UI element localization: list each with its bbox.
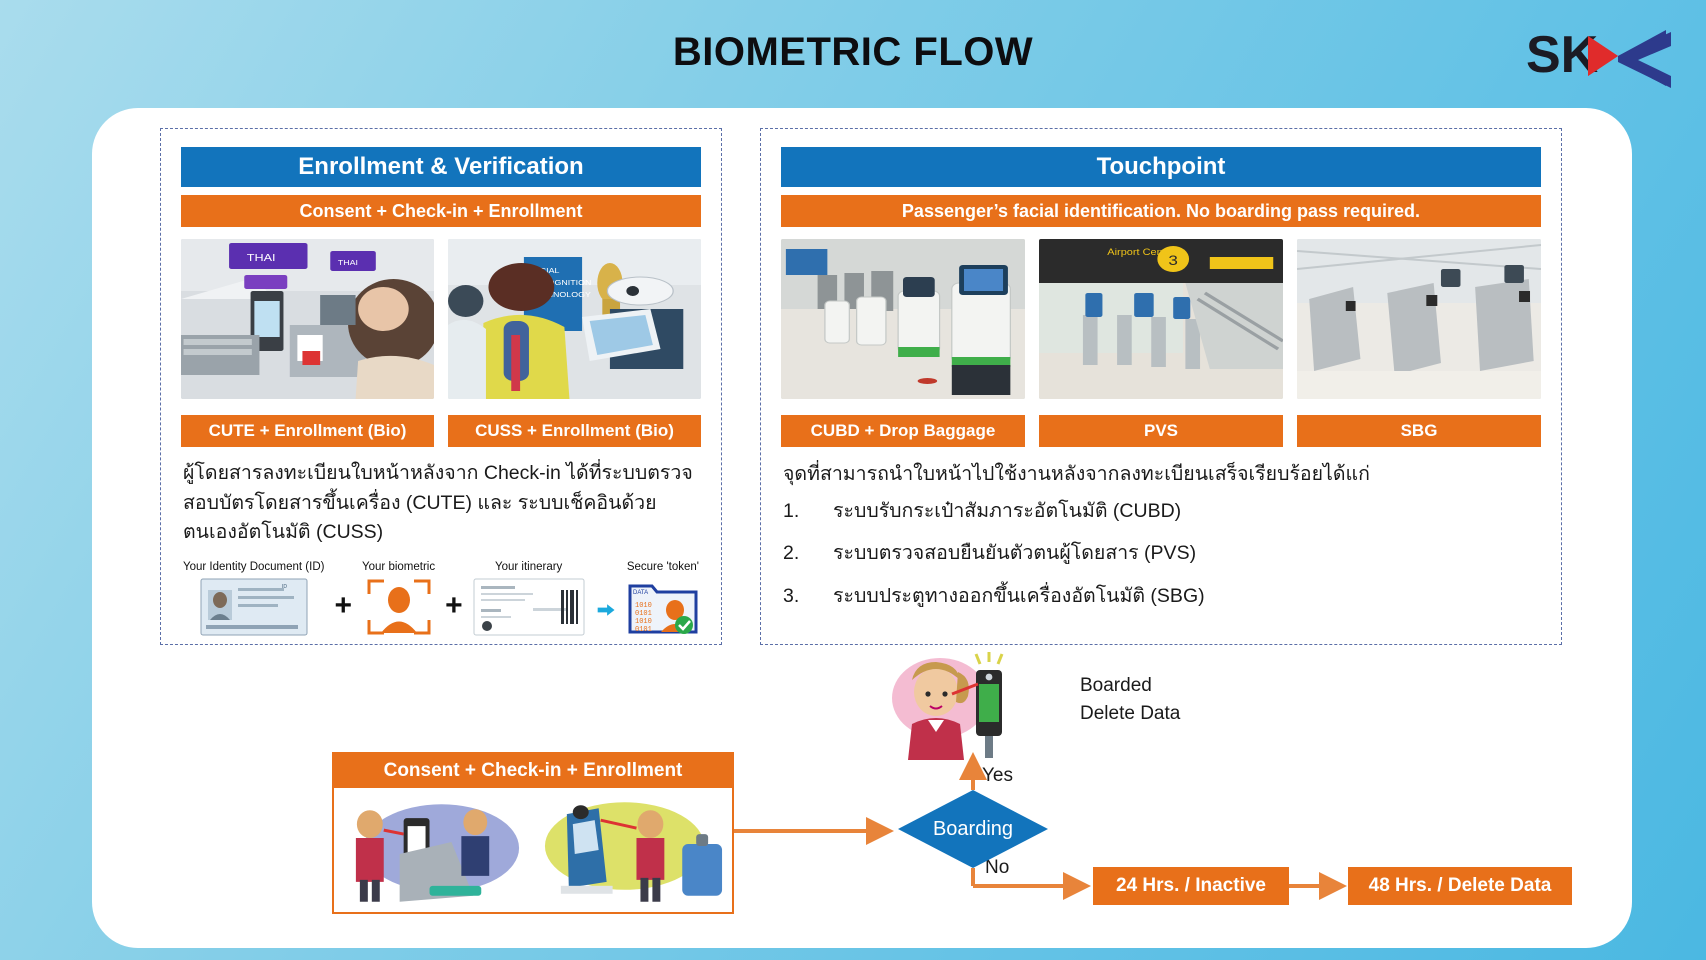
- boarded-line-2: Delete Data: [1080, 700, 1180, 728]
- token-step-biometric: Your biometric: [362, 561, 435, 641]
- svg-text:THAI: THAI: [338, 259, 358, 267]
- right-panel-body-text: จุดที่สามารถนำใบหน้าไปใช้งานหลังจากลงทะเ…: [783, 459, 1539, 490]
- list-item: 1. ระบบรับกระเป๋าสัมภาระอัตโนมัติ (CUBD): [783, 496, 1539, 527]
- caption-cubd: CUBD + Drop Baggage: [781, 415, 1025, 447]
- panel-touchpoint: Touchpoint Passenger’s facial identifica…: [760, 128, 1562, 645]
- right-panel-body: จุดที่สามารถนำใบหน้าไปใช้งานหลังจากลงทะเ…: [783, 459, 1539, 623]
- caption-cuss: CUSS + Enrollment (Bio): [448, 415, 701, 447]
- page-title: BIOMETRIC FLOW: [0, 30, 1706, 75]
- svg-text:0101: 0101: [635, 610, 652, 618]
- list-item: 2. ระบบตรวจสอบยืนยันตัวตนผู้โดยสาร (PVS): [783, 538, 1539, 569]
- boarded-line-1: Boarded: [1080, 672, 1180, 700]
- yes-label: Yes: [982, 765, 1013, 787]
- counter-enrollment-illustration: [334, 788, 533, 912]
- caption-sbg: SBG: [1297, 415, 1541, 447]
- token-step-id-label: Your Identity Document (ID): [183, 561, 324, 573]
- token-plus-1: +: [330, 589, 356, 641]
- token-step-secure-token-label: Secure 'token': [627, 561, 699, 573]
- sbg-gates-photo: [1297, 239, 1541, 399]
- self-service-kiosk-photo: FACIAL RECOGNITION TECHNOLOGY: [448, 239, 701, 399]
- left-panel-photos: THAI THAI: [181, 239, 701, 399]
- right-panel-subheader: Passenger’s facial identification. No bo…: [781, 195, 1541, 227]
- list-item-number: 2.: [783, 538, 807, 569]
- list-item-label: ระบบรับกระเป๋าสัมภาระอัตโนมัติ (CUBD): [833, 496, 1181, 527]
- left-panel-captions: CUTE + Enrollment (Bio) CUSS + Enrollmen…: [181, 415, 701, 447]
- slide-canvas: BIOMETRIC FLOW SK Enrollment & Verificat…: [0, 0, 1706, 960]
- list-item-number: 1.: [783, 496, 807, 527]
- svg-text:Airport Centre: Airport Centre: [1107, 248, 1176, 258]
- flow-start-box: Consent + Check-in + Enrollment: [332, 752, 734, 914]
- boarding-decision: Boarding: [898, 790, 1048, 868]
- token-step-id: Your Identity Document (ID) ID: [183, 561, 324, 641]
- right-panel-captions: CUBD + Drop Baggage PVS SBG: [781, 415, 1541, 447]
- left-panel-body-text: ผู้โดยสารลงทะเบียนใบหน้าหลังจาก Check-in…: [183, 459, 699, 548]
- check-in-counter-photo: THAI THAI: [181, 239, 434, 399]
- left-panel-header: Enrollment & Verification: [181, 147, 701, 187]
- flow-start-illustrations: [334, 788, 732, 912]
- timeout-box-48h: 48 Hrs. / Delete Data: [1348, 867, 1572, 905]
- list-item-label: ระบบประตูทางออกขึ้นเครื่องอัตโนมัติ (SBG…: [833, 581, 1205, 612]
- secure-token-icon: DATA 10100101 10100101: [627, 578, 699, 636]
- touchpoint-list: 1. ระบบรับกระเป๋าสัมภาระอัตโนมัติ (CUBD)…: [783, 496, 1539, 612]
- sky-logo: SK: [1526, 22, 1676, 90]
- kiosk-enrollment-illustration: [533, 788, 732, 912]
- pvs-gates-photo: 3 Airport Centre: [1039, 239, 1283, 399]
- left-panel-subheader: Consent + Check-in + Enrollment: [181, 195, 701, 227]
- svg-text:0101: 0101: [635, 626, 652, 634]
- caption-pvs: PVS: [1039, 415, 1283, 447]
- right-panel-header: Touchpoint: [781, 147, 1541, 187]
- token-step-biometric-label: Your biometric: [362, 561, 435, 573]
- token-plus-2: +: [441, 589, 467, 641]
- list-item-number: 3.: [783, 581, 807, 612]
- token-step-itinerary: Your itinerary: [473, 561, 585, 641]
- token-step-itinerary-label: Your itinerary: [473, 561, 585, 573]
- svg-text:THAI: THAI: [247, 253, 276, 264]
- face-biometric-icon: [366, 578, 432, 636]
- right-panel-photos: 3 Airport Centre: [781, 239, 1541, 399]
- svg-text:DATA: DATA: [633, 590, 648, 596]
- svg-text:ID: ID: [282, 584, 287, 590]
- boarding-pass-icon: [473, 578, 585, 636]
- token-flow-graphic: Your Identity Document (ID) ID +: [183, 561, 699, 645]
- boarded-text: Boarded Delete Data: [1080, 672, 1180, 727]
- caption-cute: CUTE + Enrollment (Bio): [181, 415, 434, 447]
- svg-text:1010: 1010: [635, 618, 652, 626]
- list-item-label: ระบบตรวจสอบยืนยันตัวตนผู้โดยสาร (PVS): [833, 538, 1196, 569]
- panel-enrollment-verification: Enrollment & Verification Consent + Chec…: [160, 128, 722, 645]
- svg-text:SK: SK: [1526, 26, 1599, 84]
- boarding-decision-label: Boarding: [898, 790, 1048, 868]
- svg-text:1010: 1010: [635, 602, 652, 610]
- id-card-icon: ID: [200, 578, 308, 636]
- face-scan-illustration: [888, 650, 1018, 760]
- timeout-box-24h: 24 Hrs. / Inactive: [1093, 867, 1289, 905]
- cubd-bag-drop-photo: [781, 239, 1025, 399]
- token-step-secure-token: Secure 'token' DATA 10100101 10100101: [627, 561, 699, 641]
- arrow-right-icon: [597, 589, 615, 631]
- list-item: 3. ระบบประตูทางออกขึ้นเครื่องอัตโนมัติ (…: [783, 581, 1539, 612]
- flow-start-title: Consent + Check-in + Enrollment: [334, 754, 732, 788]
